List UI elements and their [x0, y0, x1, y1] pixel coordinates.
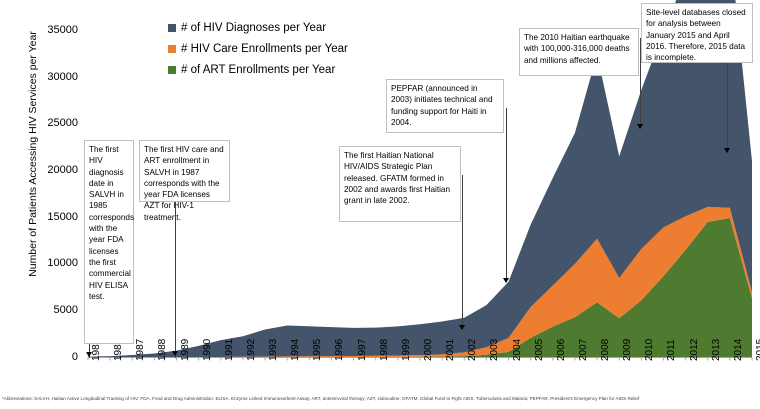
legend-label-care: # HIV Care Enrollments per Year: [181, 43, 348, 55]
leader-arrow-2004: [503, 278, 509, 283]
legend: # of HIV Diagnoses per Year # HIV Care E…: [168, 22, 348, 85]
legend-item-art[interactable]: # of ART Enrollments per Year: [168, 64, 348, 76]
leader-arrow-2015: [724, 148, 730, 153]
annotation-2015: Site-level databases closed for analysis…: [641, 3, 753, 63]
x-tick-2002: 2002: [468, 339, 478, 361]
x-tick-1994: 1994: [291, 339, 301, 361]
legend-swatch-diagnoses: [168, 24, 176, 32]
x-tick-1998: 1998: [380, 339, 390, 361]
x-tick-2001: 2001: [446, 339, 456, 361]
leader-arrow-1985: [86, 352, 92, 357]
x-tick-2005: 2005: [535, 339, 545, 361]
x-tick-1992: 1992: [247, 339, 257, 361]
x-tick-2014: 2014: [734, 339, 744, 361]
x-tick-2012: 2012: [690, 339, 700, 361]
x-tick-1990: 1990: [203, 339, 213, 361]
x-tick-2007: 2007: [579, 339, 589, 361]
leader-line-2004: [506, 108, 507, 282]
x-tick-1991: 1991: [225, 339, 235, 361]
x-tick-1993: 1993: [269, 339, 279, 361]
legend-swatch-care: [168, 45, 176, 53]
x-tick-2015: 2015: [756, 339, 760, 361]
footnote-abbreviations: *Abbreviations: SALVH, Haitian Active Lo…: [2, 396, 758, 402]
x-tick-2011: 2011: [667, 339, 677, 361]
x-tick-2003: 2003: [490, 339, 500, 361]
x-tick-1996: 1996: [335, 339, 345, 361]
leader-line-2015: [727, 63, 728, 153]
x-tick-2013: 2013: [712, 339, 722, 361]
leader-arrow-2002: [459, 325, 465, 330]
annotation-1987: The first HIV care and ART enrollment in…: [139, 140, 230, 202]
x-tick-2000: 2000: [424, 339, 434, 361]
x-tick-1987: 1987: [136, 339, 146, 361]
legend-label-diagnoses: # of HIV Diagnoses per Year: [181, 22, 326, 34]
legend-item-diagnoses[interactable]: # of HIV Diagnoses per Year: [168, 22, 348, 34]
leader-line-2002: [462, 175, 463, 329]
leader-line-1987: [175, 202, 176, 358]
annotation-1985: The first HIV diagnosis date in SALVH in…: [84, 140, 134, 344]
x-tick-1988: 1988: [158, 339, 168, 361]
leader-arrow-1987: [172, 351, 178, 356]
annotation-2010: The 2010 Haitian earthquake with 100,000…: [519, 28, 639, 76]
x-tick-2008: 2008: [601, 339, 611, 361]
legend-label-art: # of ART Enrollments per Year: [181, 64, 335, 76]
annotation-2004: PEPFAR (announced in 2003) initiates tec…: [386, 79, 504, 133]
x-tick-2010: 2010: [645, 339, 655, 361]
x-tick-2004: 2004: [513, 339, 523, 361]
x-tick-1989: 1989: [181, 339, 191, 361]
x-tick-2009: 2009: [623, 339, 633, 361]
x-tick-1995: 1995: [313, 339, 323, 361]
annotation-2002: The first Haitian National HIV/AIDS Stra…: [339, 146, 461, 222]
x-tick-1999: 1999: [402, 339, 412, 361]
chart-figure: Number of Patients Accessing HIV Service…: [0, 0, 760, 409]
legend-swatch-art: [168, 66, 176, 74]
x-tick-1997: 1997: [358, 339, 368, 361]
x-tick-2006: 2006: [557, 339, 567, 361]
legend-item-care[interactable]: # HIV Care Enrollments per Year: [168, 43, 348, 55]
leader-arrow-2010: [637, 124, 643, 129]
